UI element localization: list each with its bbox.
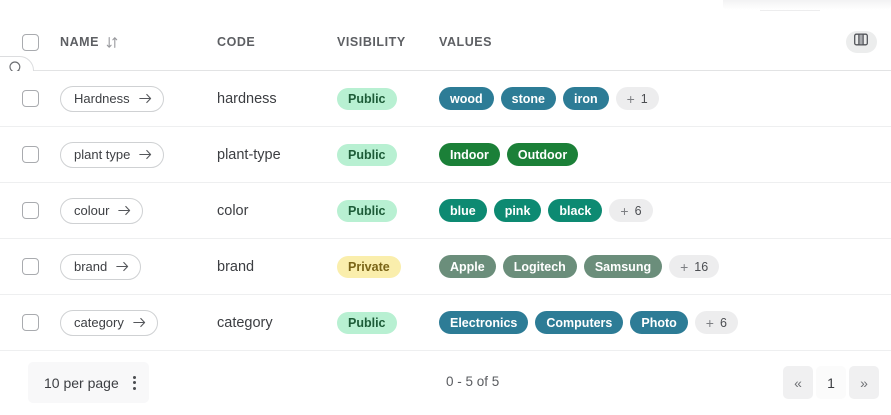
attribute-name-chip[interactable]: Hardness [60,86,164,112]
value-pill[interactable]: Electronics [439,311,528,334]
header-cell-name[interactable]: NAME [60,35,217,49]
cell-name: category [60,310,217,336]
value-pill[interactable]: Outdoor [507,143,578,166]
attribute-name-label: Hardness [74,91,130,106]
header-cell-code[interactable]: CODE [217,35,337,49]
attribute-code-label: brand [217,259,254,275]
value-pill[interactable]: black [548,199,602,222]
attribute-code-label: plant-type [217,147,281,163]
row-checkbox-cell [0,90,60,107]
attribute-name-label: brand [74,259,107,274]
attribute-code-label: hardness [217,91,277,107]
panel-above-edge [760,10,820,11]
table-row[interactable]: HardnesshardnessPublicwoodstoneiron+1 [0,71,891,127]
pagination: « 1 » [783,366,879,399]
select-all-checkbox[interactable] [22,34,39,51]
visibility-badge: Public [337,144,397,166]
row-select-checkbox[interactable] [22,258,39,275]
cell-visibility: Public [337,200,439,222]
value-pill-group: AppleLogitechSamsung+16 [439,255,831,278]
arrow-right-icon [118,205,131,216]
arrow-right-icon [139,93,152,104]
header-cell-visibility[interactable]: VISIBILITY [337,35,439,49]
visibility-badge: Private [337,256,401,278]
per-page-selector[interactable]: 10 per page [28,362,149,403]
table-header-row: NAME CODE VISIBILITY VALUES [0,22,891,62]
header-cell-values[interactable]: VALUES [439,35,831,49]
attribute-name-chip[interactable]: brand [60,254,141,280]
row-checkbox-cell [0,202,60,219]
visibility-badge: Public [337,88,397,110]
value-pill-group: bluepinkblack+6 [439,199,831,222]
row-checkbox-cell [0,146,60,163]
arrow-right-icon [139,149,152,160]
pagination-page-1[interactable]: 1 [816,366,846,399]
cell-code: color [217,202,337,220]
attribute-name-chip[interactable]: colour [60,198,143,224]
table-body: HardnesshardnessPublicwoodstoneiron+1pla… [0,71,891,351]
value-pill[interactable]: Samsung [584,255,662,278]
row-select-checkbox[interactable] [22,314,39,331]
attribute-name-chip[interactable]: plant type [60,142,164,168]
value-pill[interactable]: stone [501,87,556,110]
columns-layout-icon [854,33,868,51]
value-pill[interactable]: blue [439,199,487,222]
row-checkbox-cell [0,314,60,331]
kebab-menu-icon[interactable] [133,376,136,390]
value-pill[interactable]: wood [439,87,494,110]
more-values-count: 6 [720,316,727,330]
cell-code: plant-type [217,146,337,164]
attribute-code-label: color [217,203,248,219]
result-range-label: 0 - 5 of 5 [446,374,499,389]
visibility-badge: Public [337,312,397,334]
table-row[interactable]: brandbrandPrivateAppleLogitechSamsung+16 [0,239,891,295]
value-pill[interactable]: pink [494,199,542,222]
attribute-name-chip[interactable]: category [60,310,158,336]
value-pill[interactable]: Apple [439,255,496,278]
table-row[interactable]: categorycategoryPublicElectronicsCompute… [0,295,891,351]
cell-values: ElectronicsComputersPhoto+6 [439,311,831,334]
cell-values: bluepinkblack+6 [439,199,831,222]
cell-name: Hardness [60,86,217,112]
plus-icon: + [706,316,714,330]
plus-icon: + [620,204,628,218]
panel-above-shadow [723,0,891,10]
attributes-table-screen: NAME CODE VISIBILITY VALUES [0,0,891,415]
cell-name: colour [60,198,217,224]
visibility-badge: Public [337,200,397,222]
table-row[interactable]: colourcolorPublicbluepinkblack+6 [0,183,891,239]
table-footer: 10 per page 0 - 5 of 5 « 1 » [0,352,891,415]
cell-visibility: Public [337,312,439,334]
arrow-right-icon [133,317,146,328]
cell-visibility: Public [337,88,439,110]
columns-settings-button[interactable] [846,31,877,53]
cell-visibility: Private [337,256,439,278]
row-select-checkbox[interactable] [22,90,39,107]
more-values-pill[interactable]: +16 [669,255,719,278]
value-pill[interactable]: Photo [630,311,687,334]
row-checkbox-cell [0,258,60,275]
cell-code: brand [217,258,337,276]
arrow-right-icon [116,261,129,272]
more-values-pill[interactable]: +6 [609,199,652,222]
value-pill[interactable]: Indoor [439,143,500,166]
cell-values: woodstoneiron+1 [439,87,831,110]
value-pill-group: ElectronicsComputersPhoto+6 [439,311,831,334]
attribute-name-label: colour [74,203,109,218]
cell-name: plant type [60,142,217,168]
value-pill[interactable]: Logitech [503,255,577,278]
cell-code: category [217,314,337,332]
more-values-pill[interactable]: +6 [695,311,738,334]
header-label-values: VALUES [439,35,492,49]
cell-code: hardness [217,90,337,108]
row-select-checkbox[interactable] [22,146,39,163]
value-pill-group: woodstoneiron+1 [439,87,831,110]
attribute-name-label: plant type [74,147,130,162]
cell-values: AppleLogitechSamsung+16 [439,255,831,278]
attribute-code-label: category [217,315,273,331]
plus-icon: + [627,92,635,106]
header-checkbox-cell [0,34,60,51]
plus-icon: + [680,260,688,274]
more-values-count: 1 [641,92,648,106]
more-values-count: 16 [694,260,708,274]
value-pill-group: IndoorOutdoor [439,143,831,166]
pagination-next-button[interactable]: » [849,366,879,399]
pagination-prev-button[interactable]: « [783,366,813,399]
more-values-pill[interactable]: +1 [616,87,659,110]
header-tools-cell [831,31,891,53]
row-select-checkbox[interactable] [22,202,39,219]
table-row[interactable]: plant typeplant-typePublicIndoorOutdoor [0,127,891,183]
header-label-visibility: VISIBILITY [337,35,406,49]
header-label-code: CODE [217,35,255,49]
more-values-count: 6 [635,204,642,218]
per-page-label: 10 per page [44,375,119,391]
value-pill[interactable]: Computers [535,311,623,334]
value-pill[interactable]: iron [563,87,609,110]
cell-name: brand [60,254,217,280]
attribute-name-label: category [74,315,124,330]
cell-visibility: Public [337,144,439,166]
sort-updown-icon[interactable] [106,36,118,49]
header-label-name: NAME [60,35,99,49]
cell-values: IndoorOutdoor [439,143,831,166]
